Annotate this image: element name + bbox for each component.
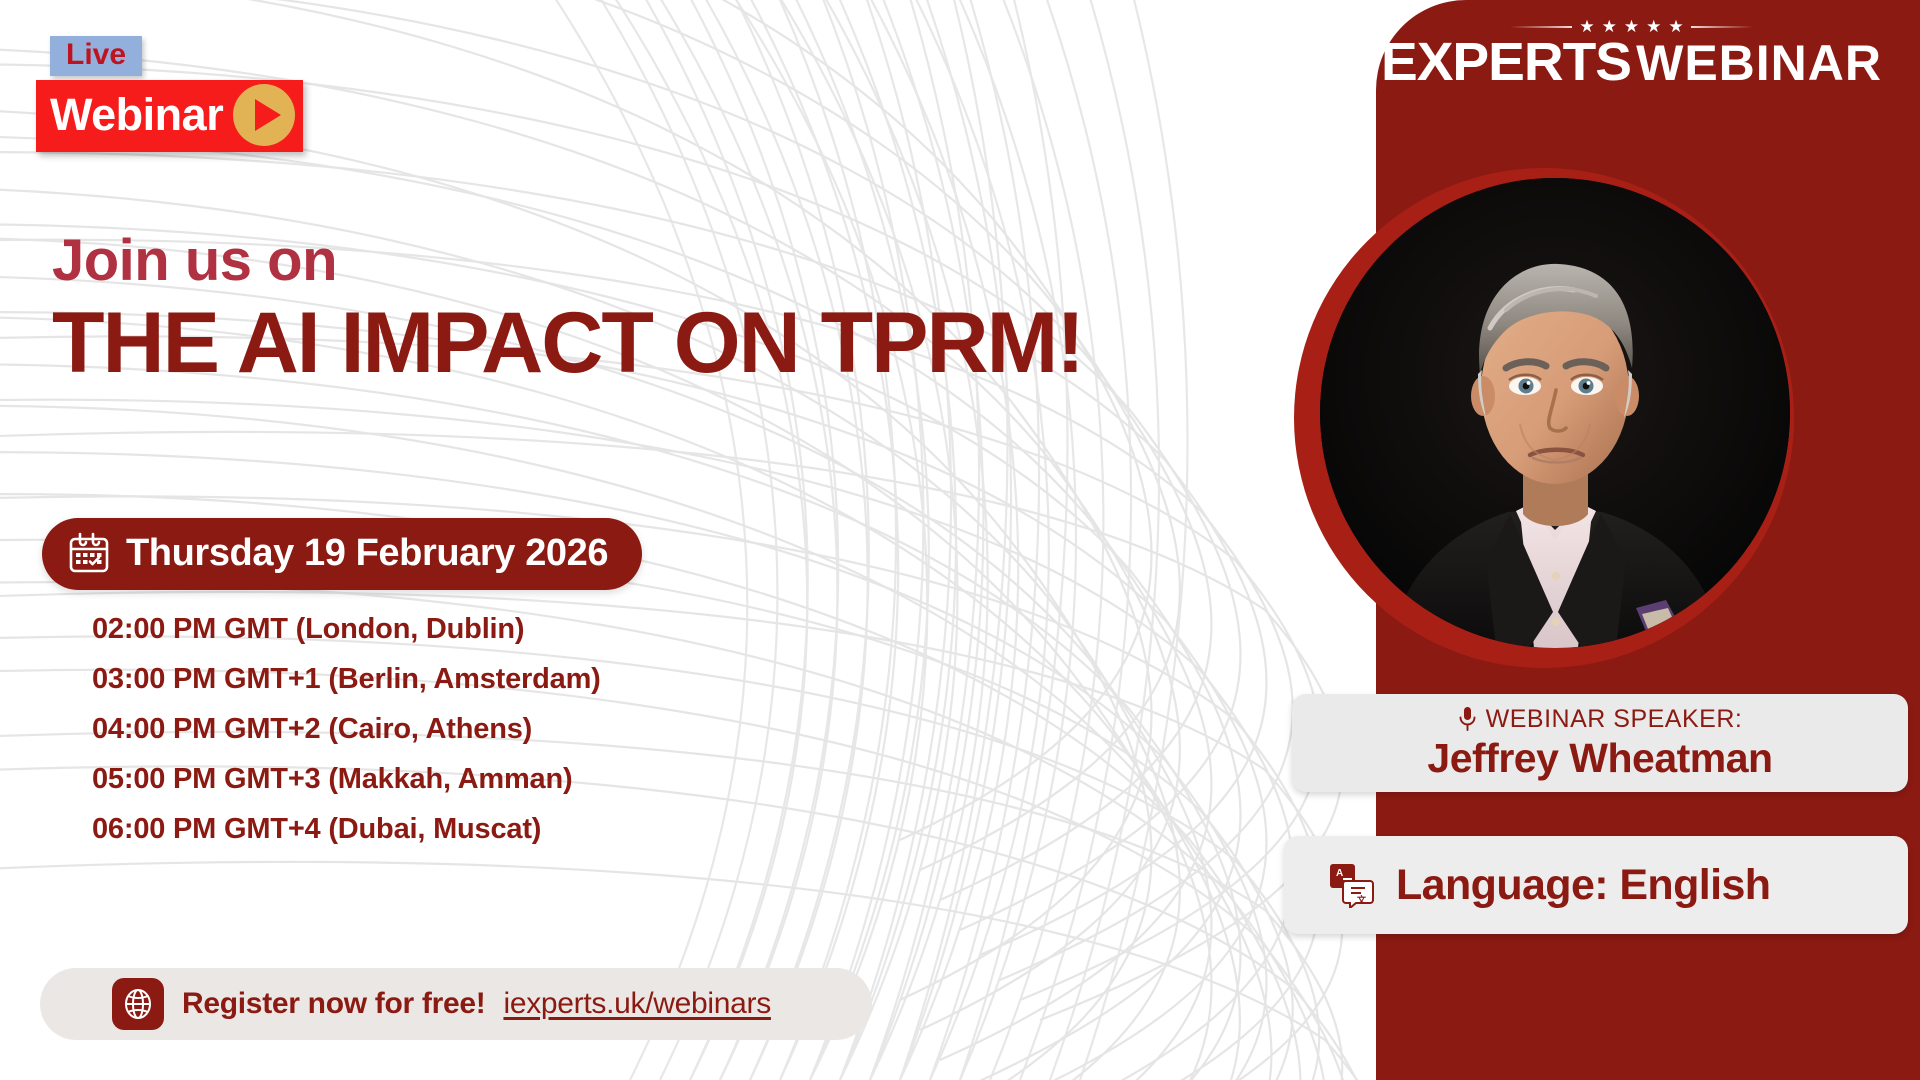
list-item: 05:00 PM GMT+3 (Makkah, Amman) (92, 765, 601, 794)
live-chip: Live (50, 36, 142, 76)
translate-icon: A 文 (1328, 862, 1374, 908)
svg-text:文: 文 (1356, 894, 1367, 905)
logo-experts-text: EXPERTS (1381, 37, 1631, 88)
live-webinar-badge: Live Webinar (36, 36, 296, 156)
calendar-icon (68, 532, 110, 574)
webinar-bar: Webinar (36, 80, 303, 152)
logo-rule-right (1691, 26, 1753, 28)
speaker-name: Jeffrey Wheatman (1427, 735, 1772, 782)
microphone-icon (1458, 706, 1477, 732)
headline-eyebrow: Join us on (52, 232, 1083, 290)
logo-webinar-text: WEBINAR (1636, 40, 1882, 88)
speaker-role-row: WEBINAR SPEAKER: (1458, 705, 1743, 734)
star-icon: ★ (1646, 18, 1661, 35)
list-item: 06:00 PM GMT+4 (Dubai, Muscat) (92, 815, 601, 844)
avatar (1320, 178, 1790, 648)
speaker-role-label: WEBINAR SPEAKER: (1486, 705, 1743, 734)
register-bar[interactable]: Register now for free! iexperts.uk/webin… (40, 968, 872, 1040)
register-url-link[interactable]: iexperts.uk/webinars (503, 987, 770, 1021)
play-triangle (255, 99, 281, 131)
language-card: A 文 Language: English (1284, 836, 1908, 934)
svg-text:A: A (1336, 868, 1343, 879)
list-item: 03:00 PM GMT+1 (Berlin, Amsterdam) (92, 665, 601, 694)
globe-glyph (121, 987, 155, 1021)
list-item: 04:00 PM GMT+2 (Cairo, Athens) (92, 715, 601, 744)
speaker-portrait-illustration (1320, 178, 1790, 648)
headline-block: Join us on THE AI IMPACT ON TPRM! (52, 232, 1083, 389)
speaker-card: WEBINAR SPEAKER: Jeffrey Wheatman (1292, 694, 1908, 792)
brand-logo: ★ ★ ★ ★ ★ EXPERTS WEBINAR (1317, 18, 1882, 88)
date-pill: Thursday 19 February 2026 (42, 518, 642, 590)
register-label: Register now for free! (182, 987, 485, 1021)
iexperts-person-mark-icon (1317, 26, 1373, 88)
language-label: Language: English (1396, 861, 1770, 910)
timezone-list: 02:00 PM GMT (London, Dublin) 03:00 PM G… (92, 615, 601, 865)
logo-rule-left (1510, 26, 1572, 28)
globe-icon (112, 978, 164, 1030)
date-label: Thursday 19 February 2026 (126, 534, 608, 572)
webinar-bar-label: Webinar (50, 91, 223, 138)
star-icon: ★ (1668, 18, 1683, 35)
list-item: 02:00 PM GMT (London, Dublin) (92, 615, 601, 644)
play-icon (233, 84, 295, 146)
page-title: THE AI IMPACT ON TPRM! (52, 298, 1083, 389)
